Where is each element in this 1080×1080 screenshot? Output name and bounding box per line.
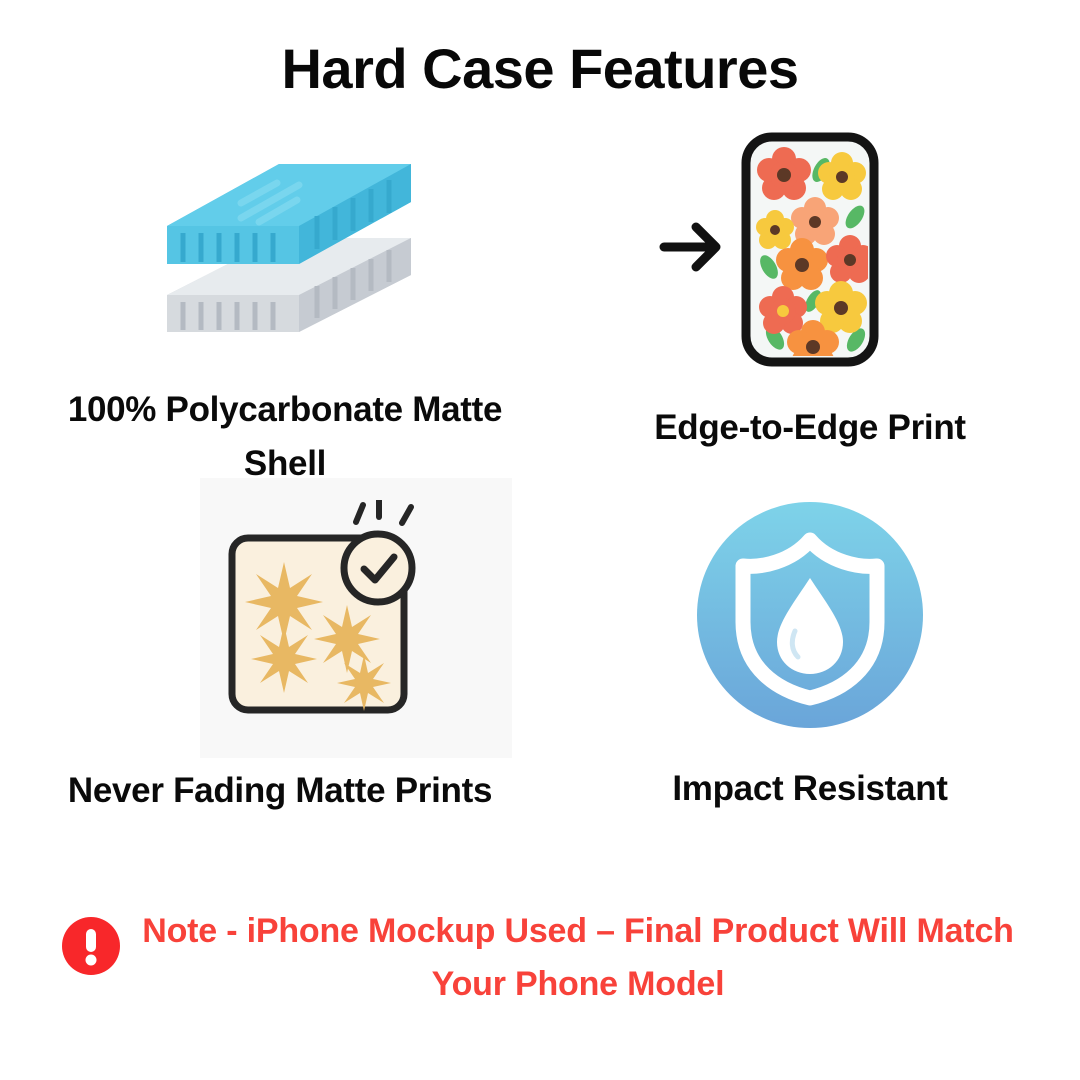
check-badge-icon xyxy=(344,500,412,602)
feature-polycarbonate: 100% Polycarbonate Matte Shell xyxy=(30,150,540,492)
feature-label-impact: Impact Resistant xyxy=(560,762,1060,816)
phone-floral-print-icon xyxy=(650,125,970,375)
feature-icon-wrapper xyxy=(135,150,435,365)
note-text: Note - iPhone Mockup Used – Final Produc… xyxy=(138,905,1018,1010)
note-icon-box xyxy=(62,917,120,980)
feature-edge-print: Edge-to-Edge Print xyxy=(560,125,1060,455)
feature-icon-wrapper xyxy=(650,125,970,375)
page-title: Hard Case Features xyxy=(0,36,1080,101)
feature-impact: Impact Resistant xyxy=(560,500,1060,816)
layered-slabs-icon xyxy=(149,150,429,365)
feature-icon-wrapper xyxy=(695,500,925,730)
feature-infographic: Hard Case Features xyxy=(0,0,1080,1080)
feature-label-edge-print: Edge-to-Edge Print xyxy=(560,401,1060,455)
feature-icon-wrapper xyxy=(124,470,436,760)
shield-droplet-icon xyxy=(695,500,925,730)
feature-never-fading: Never Fading Matte Prints xyxy=(25,470,535,818)
arrow-right-icon xyxy=(664,227,716,267)
exclamation-circle-icon xyxy=(62,917,120,975)
matte-print-check-icon xyxy=(184,500,434,740)
feature-label-never-fading: Never Fading Matte Prints xyxy=(25,764,535,818)
note-banner: Note - iPhone Mockup Used – Final Produc… xyxy=(0,905,1080,1010)
